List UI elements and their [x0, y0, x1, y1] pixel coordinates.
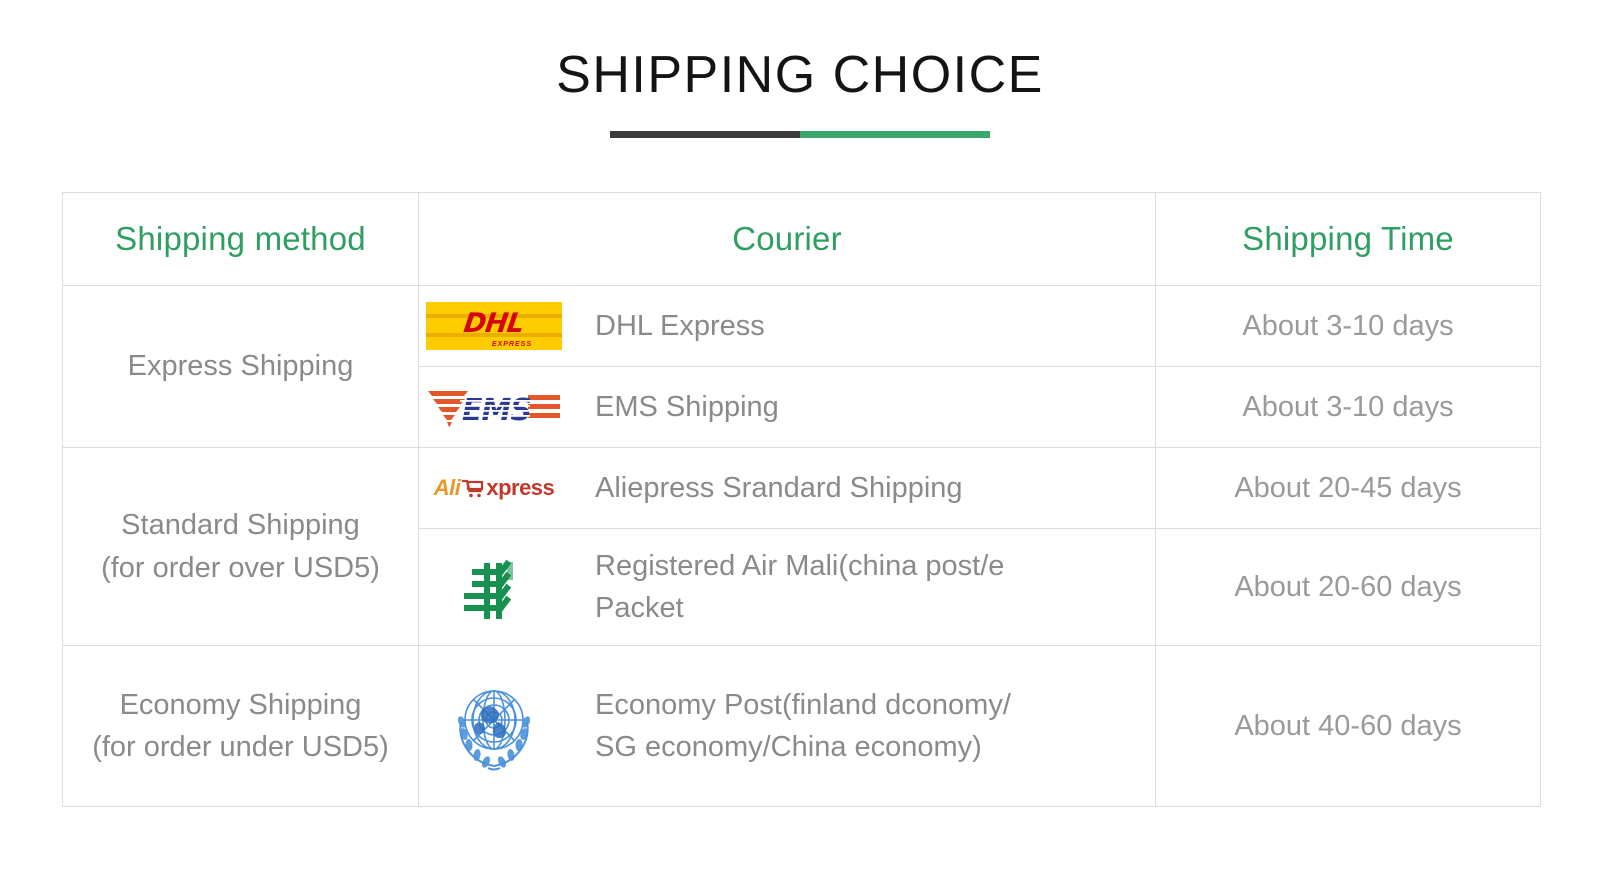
table-row: Economy Shipping (for order under USD5): [63, 646, 1541, 807]
shipping-choice-page: SHIPPING CHOICE Shipping method Courier …: [0, 0, 1600, 880]
title-rule-green-segment: [800, 131, 990, 138]
courier-name: EMS Shipping: [595, 386, 779, 428]
courier-name-line: Packet: [595, 587, 1004, 629]
table-header-row: Shipping method Courier Shipping Time: [63, 193, 1541, 286]
title-rule-dark-segment: [610, 131, 800, 138]
page-header: SHIPPING CHOICE: [0, 48, 1600, 138]
table-body: Express Shipping DHL EXPRESS: [63, 286, 1541, 807]
title-underline-rule: [610, 131, 990, 138]
shipping-time-cell: About 40-60 days: [1156, 646, 1541, 807]
aliexpress-logo-xpress-text: xpress: [486, 475, 554, 501]
courier-name-line: Economy Post(finland dconomy/: [595, 684, 1011, 726]
aliexpress-logo: Ali xpress: [419, 475, 569, 501]
shipping-options-table: Shipping method Courier Shipping Time Ex…: [62, 192, 1541, 807]
shipping-time-cell: About 20-45 days: [1156, 448, 1541, 529]
method-cell-standard: Standard Shipping (for order over USD5): [63, 448, 419, 646]
column-header-shipping-method: Shipping method: [63, 193, 419, 286]
courier-name-line: EMS Shipping: [595, 386, 779, 428]
dhl-logo: DHL EXPRESS: [419, 302, 569, 350]
dhl-logo-subtext: EXPRESS: [492, 341, 532, 348]
courier-cell-dhl: DHL EXPRESS DHL Express: [419, 286, 1156, 367]
table-row: Express Shipping DHL EXPRESS: [63, 286, 1541, 367]
shipping-time-cell: About 3-10 days: [1156, 286, 1541, 367]
courier-cell-aliexpress: Ali xpress: [419, 448, 1156, 529]
page-title: SHIPPING CHOICE: [0, 48, 1600, 103]
courier-name-line: Aliepress Srandard Shipping: [595, 467, 963, 509]
ems-logo: EMS: [419, 381, 569, 433]
shipping-time-cell: About 20-60 days: [1156, 529, 1541, 646]
method-label-line: (for order under USD5): [63, 726, 418, 768]
china-post-logo: [419, 550, 569, 624]
aliexpress-logo-ali-text: Ali: [434, 475, 461, 501]
dhl-logo-wordmark: DHL: [462, 308, 526, 339]
courier-cell-china-post: Registered Air Mali(china post/e Packet: [419, 529, 1156, 646]
united-nations-logo: [419, 678, 569, 774]
method-cell-economy: Economy Shipping (for order under USD5): [63, 646, 419, 807]
courier-name: Registered Air Mali(china post/e Packet: [595, 545, 1004, 629]
courier-name-line: Registered Air Mali(china post/e: [595, 545, 1004, 587]
column-header-shipping-time: Shipping Time: [1156, 193, 1541, 286]
method-label-line: (for order over USD5): [63, 547, 418, 589]
method-label-line: Express Shipping: [63, 345, 418, 387]
table-header: Shipping method Courier Shipping Time: [63, 193, 1541, 286]
table-row: Standard Shipping (for order over USD5) …: [63, 448, 1541, 529]
method-label-line: Standard Shipping: [63, 504, 418, 546]
courier-cell-ems: EMS: [419, 367, 1156, 448]
shipping-time-cell: About 3-10 days: [1156, 367, 1541, 448]
column-header-courier: Courier: [419, 193, 1156, 286]
method-label-line: Economy Shipping: [63, 684, 418, 726]
shipping-table-wrapper: Shipping method Courier Shipping Time Ex…: [62, 192, 1540, 807]
courier-name: Aliepress Srandard Shipping: [595, 467, 963, 509]
courier-name: DHL Express: [595, 305, 765, 347]
shopping-cart-icon: [461, 477, 485, 499]
courier-name-line: SG economy/China economy): [595, 726, 1011, 768]
courier-name: Economy Post(finland dconomy/ SG economy…: [595, 684, 1011, 768]
method-cell-express: Express Shipping: [63, 286, 419, 448]
courier-cell-united-nations: Economy Post(finland dconomy/ SG economy…: [419, 646, 1156, 807]
courier-name-line: DHL Express: [595, 305, 765, 347]
